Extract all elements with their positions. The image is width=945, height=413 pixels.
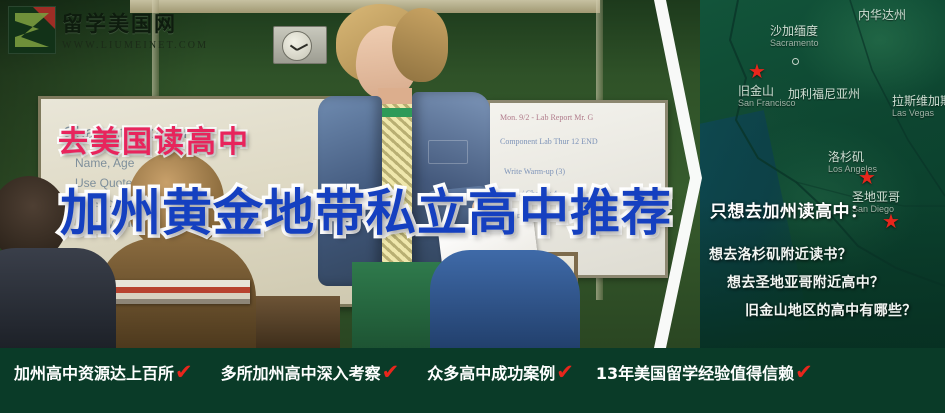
benefit-label: 加州高中资源达上百所 (14, 360, 174, 384)
benefit-item-4: 13年美国留学经验值得信赖 ✔ (596, 360, 813, 384)
liumeinet-logo-mark (8, 6, 56, 54)
benefit-label: 多所加州高中深入考察 (221, 360, 381, 384)
check-icon: ✔ (382, 362, 400, 383)
right-panel-question-2: 想去圣地亚哥附近高中？ (727, 272, 884, 292)
logo-wordmark: 留学美国网 WWW.LIUMEINET.COM (62, 8, 208, 51)
map-label-sacramento: 沙加缅度 Sacramento (770, 22, 819, 48)
map-star-san-francisco: ★ (748, 62, 766, 82)
map-label-nevada: 内华达州 (858, 6, 906, 23)
benefit-label: 众多高中成功案例 (427, 360, 555, 384)
right-panel-heading: 只想去加州读高中： (710, 197, 868, 222)
headline-kicker: 去美国读高中 (58, 117, 250, 161)
right-panel-question-1: 想去洛杉矶附近读书？ (709, 244, 852, 264)
logo-mark-shape (9, 7, 55, 53)
california-map-panel: 内华达州 沙加缅度 Sacramento ★ 旧金山 San Francisco… (700, 0, 945, 348)
map-label-las-vegas: 拉斯维加斯 Las Vegas (892, 92, 945, 118)
logo-brand-cn: 留学美国网 (62, 8, 208, 38)
student-blue-shirt (430, 250, 580, 348)
benefit-item-2: 多所加州高中深入考察 ✔ (221, 360, 400, 384)
check-icon: ✔ (556, 362, 574, 383)
check-icon: ✔ (795, 362, 813, 383)
teacher-hair-back (392, 8, 448, 82)
benefits-bar: 加州高中资源达上百所 ✔ 多所加州高中深入考察 ✔ 众多高中成功案例 ✔ 13年… (0, 348, 945, 413)
headline-main: 加州黄金地带私立高中推荐 (60, 173, 672, 245)
map-star-san-diego: ★ (882, 212, 900, 232)
promo-banner: Characterization Name, Age Use Quote Res… (0, 0, 945, 413)
book-stack (100, 280, 250, 304)
map-dot-sacramento (792, 58, 799, 65)
benefit-label: 13年美国留学经验值得信赖 (596, 360, 794, 384)
benefit-item-3: 众多高中成功案例 ✔ (427, 360, 574, 384)
map-label-san-francisco: 旧金山 San Francisco (738, 82, 796, 108)
check-icon: ✔ (175, 362, 193, 383)
student-dark-body (0, 248, 116, 348)
logo-brand-url: WWW.LIUMEINET.COM (62, 40, 208, 51)
map-star-los-angeles: ★ (858, 168, 876, 188)
map-label-california: 加利福尼亚州 (788, 85, 860, 102)
teacher-jacket-pocket (428, 140, 468, 164)
benefit-item-1: 加州高中资源达上百所 ✔ (14, 360, 193, 384)
right-panel-question-3: 旧金山地区的高中有哪些？ (745, 300, 917, 320)
